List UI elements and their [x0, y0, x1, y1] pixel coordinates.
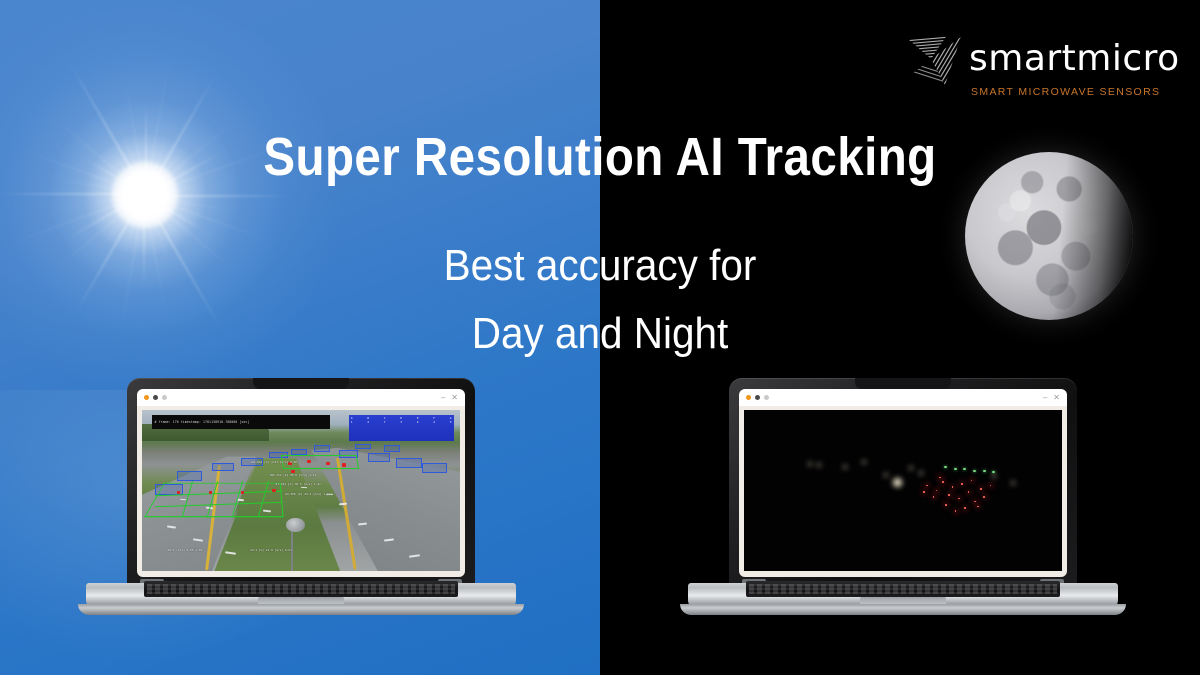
legend-cell: 4 [417, 420, 419, 424]
taillight [980, 488, 982, 490]
overhead-sign-light [954, 468, 957, 470]
taillight [977, 506, 979, 508]
night-laptop-display: – ✕ [739, 389, 1067, 577]
vehicle-bounding-box [396, 458, 421, 468]
night-window-titlebar[interactable]: – ✕ [739, 389, 1067, 406]
vehicle-bounding-box [355, 444, 371, 450]
page-title: Super Resolution AI Tracking [72, 129, 1128, 186]
taillight [945, 504, 947, 506]
window-traffic-lights[interactable] [144, 395, 167, 400]
track-annotation: 106.331 [m] 28.0 [m/s] 2.11 [269, 473, 316, 477]
brand-tagline: SMART MICROWAVE SENSORS [971, 86, 1160, 98]
track-marker [272, 489, 276, 493]
legend-cell: 2 [367, 420, 369, 424]
taillight [933, 496, 935, 498]
window-close-dot[interactable] [144, 395, 149, 400]
taillight [961, 483, 963, 485]
day-screen-frame: 192.844 [m] 4.81 [m/s] 0.00106.331 [m] 2… [137, 406, 465, 577]
video-status-text: # frame: 176 timestamp: 1701130910.78800… [155, 420, 250, 424]
window-zoom-dot[interactable] [162, 395, 167, 400]
overhead-sign-light [992, 471, 995, 473]
legend-cell: 7 [384, 420, 386, 424]
day-laptop: – ✕ [86, 378, 516, 643]
taillight [968, 491, 970, 493]
smartmicro-logo: smartmicro SMART MICROWAVE SENSORS [905, 33, 1165, 105]
headlight-glow [919, 471, 923, 475]
taillight [948, 494, 950, 496]
taillight [983, 496, 985, 498]
day-window-titlebar[interactable]: – ✕ [137, 389, 465, 406]
page-subtitle: Best accuracy for Day and Night [48, 232, 1152, 368]
vehicle-bounding-box [212, 463, 234, 471]
close-icon[interactable]: ✕ [451, 394, 458, 402]
track-marker [209, 491, 213, 495]
window-controls[interactable]: – ✕ [441, 394, 458, 402]
legend-cell: 1 [351, 420, 353, 424]
subtitle-line-1: Best accuracy for [48, 232, 1152, 300]
vehicle-bounding-box [368, 453, 390, 461]
window-minimize-dot[interactable] [153, 395, 158, 400]
vehicle-bounding-box [177, 471, 202, 481]
track-annotation: 192.844 [m] 4.81 [m/s] 0.00 [250, 460, 297, 464]
day-traffic-video[interactable]: 192.844 [m] 4.81 [m/s] 0.00106.331 [m] 2… [142, 410, 460, 571]
night-screen-frame [739, 406, 1067, 577]
taillight [923, 491, 925, 493]
overhead-sign-light [963, 468, 966, 470]
close-icon[interactable]: ✕ [1053, 394, 1060, 402]
taillight [942, 481, 944, 483]
headlight-glow [1011, 481, 1015, 485]
overhead-sign-light [973, 470, 976, 472]
vehicle-bounding-box [422, 463, 447, 473]
overhead-sign-light [983, 470, 986, 472]
track-annotation: 64.308 [m] 29.4 [m/s] 1.81 [285, 492, 330, 496]
promotional-banner: smartmicro SMART MICROWAVE SENSORS Super… [0, 0, 1200, 675]
headlight-glow [909, 466, 913, 470]
track-annotation: 81.944 [m] 30.6 [m/s] 1.47 [276, 482, 321, 486]
taillight [964, 507, 966, 509]
night-keyboard[interactable] [746, 581, 1060, 597]
overhead-sign-light [944, 466, 947, 468]
track-marker [241, 491, 245, 495]
legend-value-row: 1273425 [351, 420, 452, 424]
video-status-bar: # frame: 176 timestamp: 1701130910.78800… [152, 415, 330, 429]
night-laptop-lid: – ✕ [729, 378, 1077, 590]
smartmicro-radiating-arrow-icon [905, 33, 967, 91]
window-zoom-dot[interactable] [764, 395, 769, 400]
minimize-icon[interactable]: – [441, 394, 445, 402]
taillight [939, 477, 941, 479]
night-laptop: – ✕ [688, 378, 1118, 643]
minimize-icon[interactable]: – [1043, 394, 1047, 402]
vehicle-bounding-box [314, 445, 330, 451]
legend-cell: 3 [400, 420, 402, 424]
window-minimize-dot[interactable] [755, 395, 760, 400]
window-controls[interactable]: – ✕ [1043, 394, 1060, 402]
subtitle-line-2: Day and Night [48, 300, 1152, 368]
headlight-glow [862, 460, 866, 464]
taillight [958, 498, 960, 500]
day-laptop-lid: – ✕ [127, 378, 475, 590]
legend-cell: 2 [433, 420, 435, 424]
brand-name: smartmicro [969, 41, 1180, 77]
track-annotation: 50.9 [m/s] 0.85 1.03 [167, 548, 202, 552]
vehicle-bounding-box [384, 445, 400, 451]
window-traffic-lights[interactable] [746, 395, 769, 400]
night-base-edge [680, 604, 1126, 615]
legend-cell: 5 [450, 420, 452, 424]
lid-notch [253, 378, 349, 389]
night-traffic-video[interactable] [744, 410, 1062, 571]
lid-notch [855, 378, 951, 389]
day-laptop-display: – ✕ [137, 389, 465, 577]
day-base-edge [78, 604, 524, 615]
headlight-glow [884, 473, 888, 477]
headlight-glow [992, 474, 996, 478]
headlight-glow [808, 462, 812, 466]
headlight-glow [817, 463, 821, 467]
detection-legend-panel: ABCDEFG 1273425 [349, 415, 454, 441]
headlight-glow [843, 465, 847, 469]
track-annotation: 24.2 [m] 21.9 [m/s] 0.61 [250, 548, 292, 552]
headlight-glow [893, 478, 902, 487]
window-close-dot[interactable] [746, 395, 751, 400]
day-keyboard[interactable] [144, 581, 458, 597]
night-scene-backdrop [744, 410, 1062, 571]
camera-pole-head [286, 518, 305, 532]
